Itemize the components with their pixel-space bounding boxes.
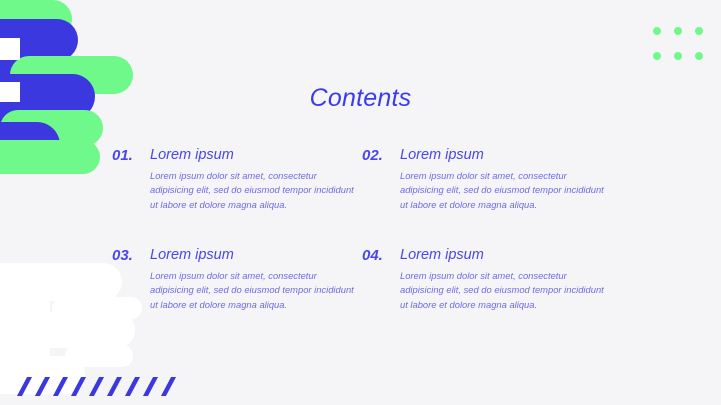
diagonal-slash-shape — [35, 377, 50, 396]
item-number: 04. — [362, 246, 400, 266]
diagonal-slash-shape — [89, 377, 104, 396]
diagonal-slash-shape — [143, 377, 158, 396]
contents-item-01: 01. Lorem ipsum Lorem ipsum dolor sit am… — [112, 146, 362, 212]
item-body: Lorem ipsum Lorem ipsum dolor sit amet, … — [150, 246, 362, 312]
diagonal-slash-shape — [71, 377, 86, 396]
item-number: 03. — [112, 246, 150, 266]
green-dot-icon — [674, 27, 682, 35]
item-heading: Lorem ipsum — [400, 246, 612, 266]
item-heading: Lorem ipsum — [400, 146, 612, 166]
green-dot-icon — [695, 27, 703, 35]
contents-item-03: 03. Lorem ipsum Lorem ipsum dolor sit am… — [112, 246, 362, 312]
diagonal-slash-shape — [17, 377, 32, 396]
contents-item-02: 02. Lorem ipsum Lorem ipsum dolor sit am… — [362, 146, 612, 212]
white-block-shape — [0, 290, 50, 375]
diagonal-slash-shape — [53, 377, 68, 396]
item-description: Lorem ipsum dolor sit amet, consectetur … — [400, 269, 612, 313]
item-heading: Lorem ipsum — [150, 246, 362, 266]
blue-bar-shape — [0, 19, 78, 61]
green-dot-icon — [674, 52, 682, 60]
white-bar-shape — [0, 263, 122, 301]
item-number: 02. — [362, 146, 400, 166]
white-bar-shape — [0, 38, 20, 60]
item-heading: Lorem ipsum — [150, 146, 362, 166]
green-bar-shape — [0, 0, 72, 38]
slide-title: Contents — [0, 84, 721, 113]
item-description: Lorem ipsum dolor sit amet, consectetur … — [400, 169, 612, 213]
contents-item-04: 04. Lorem ipsum Lorem ipsum dolor sit am… — [362, 246, 612, 312]
diagonal-slash-shape — [107, 377, 122, 396]
diagonal-slash-shape — [125, 377, 140, 396]
item-body: Lorem ipsum Lorem ipsum dolor sit amet, … — [400, 146, 612, 212]
item-body: Lorem ipsum Lorem ipsum dolor sit amet, … — [400, 246, 612, 312]
green-bar-shape — [0, 140, 100, 174]
item-description: Lorem ipsum dolor sit amet, consectetur … — [150, 269, 362, 313]
white-bar-shape — [0, 356, 85, 394]
slide-canvas: Contents 01. Lorem ipsum Lorem ipsum dol… — [0, 0, 721, 405]
blue-bar-shape — [0, 122, 60, 168]
item-body: Lorem ipsum Lorem ipsum dolor sit amet, … — [150, 146, 362, 212]
green-bar-shape — [0, 110, 103, 146]
diagonal-slash-shape — [161, 377, 176, 396]
green-dot-icon — [653, 52, 661, 60]
contents-grid: 01. Lorem ipsum Lorem ipsum dolor sit am… — [112, 146, 612, 313]
item-number: 01. — [112, 146, 150, 166]
white-bar-shape — [65, 345, 133, 367]
green-dot-icon — [653, 27, 661, 35]
white-bar-shape — [0, 312, 135, 348]
item-description: Lorem ipsum dolor sit amet, consectetur … — [150, 169, 362, 213]
green-dot-icon — [695, 52, 703, 60]
